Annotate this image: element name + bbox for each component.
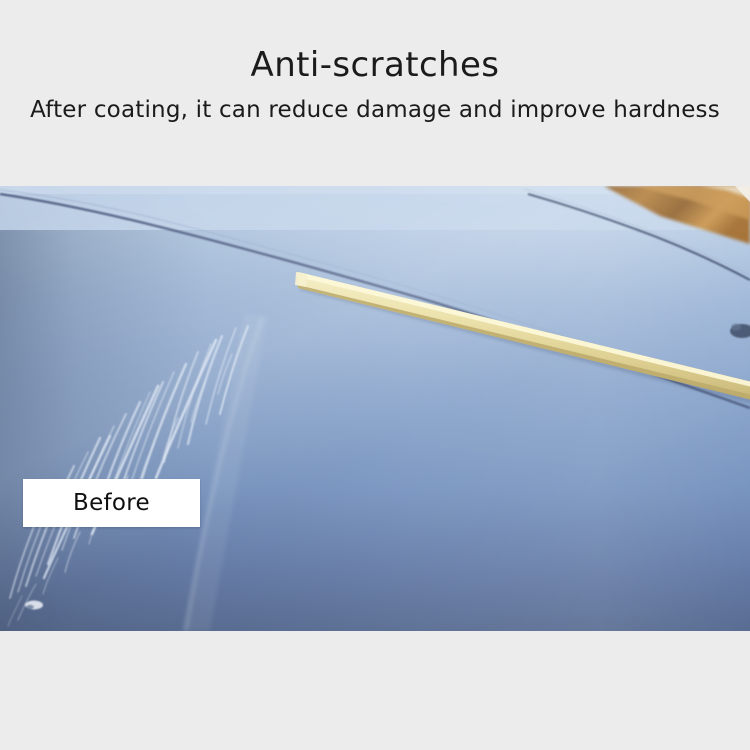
before-after-photo: Before After xyxy=(0,186,750,631)
before-label-box: Before xyxy=(23,479,200,527)
page-subtitle: After coating, it can reduce damage and … xyxy=(0,95,750,125)
paint-chip-mark xyxy=(25,601,43,610)
before-label-text: Before xyxy=(73,490,150,516)
footer-spacer xyxy=(0,631,750,750)
header-section: Anti-scratches After coating, it can red… xyxy=(0,0,750,186)
car-panel-illustration xyxy=(0,186,750,631)
comparison-banner: Anti-scratches After coating, it can red… xyxy=(0,0,750,750)
gloss-sheen xyxy=(0,186,750,631)
page-title: Anti-scratches xyxy=(0,45,750,85)
